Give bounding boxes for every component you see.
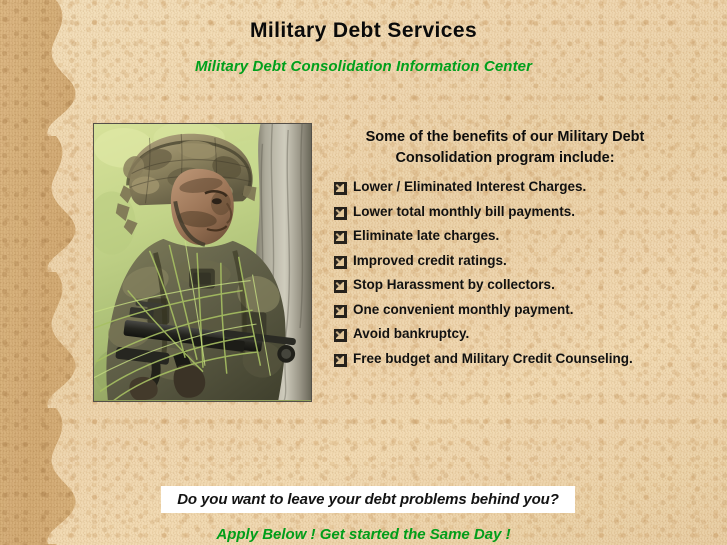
benefit-label: Improved credit ratings. xyxy=(353,254,507,269)
benefit-item: Lower / Eliminated Interest Charges. xyxy=(334,180,680,195)
benefits-panel: Some of the benefits of our Military Deb… xyxy=(330,127,680,376)
question-banner-text: Do you want to leave your debt problems … xyxy=(177,491,559,508)
benefit-item: Eliminate late charges. xyxy=(334,229,680,244)
note-page-icon xyxy=(334,182,347,195)
decorative-left-border xyxy=(0,0,92,545)
benefit-label: Free budget and Military Credit Counseli… xyxy=(353,352,633,367)
note-page-icon xyxy=(334,280,347,293)
soldier-photo-frame xyxy=(93,123,312,402)
page-subtitle: Military Debt Consolidation Information … xyxy=(0,58,727,75)
benefit-item: Avoid bankruptcy. xyxy=(334,327,680,342)
page-title: Military Debt Services xyxy=(0,19,727,43)
benefits-heading: Some of the benefits of our Military Deb… xyxy=(346,127,664,168)
question-banner: Do you want to leave your debt problems … xyxy=(161,486,575,513)
note-page-icon xyxy=(334,305,347,318)
note-page-icon xyxy=(334,207,347,220)
benefit-label: Eliminate late charges. xyxy=(353,229,499,244)
soldier-photo xyxy=(94,124,311,400)
benefit-label: Stop Harassment by collectors. xyxy=(353,278,555,293)
call-to-action-text: Apply Below ! Get started the Same Day ! xyxy=(0,526,727,543)
benefit-item: One convenient monthly payment. xyxy=(334,303,680,318)
note-page-icon xyxy=(334,329,347,342)
benefit-label: Lower / Eliminated Interest Charges. xyxy=(353,180,586,195)
benefit-item: Stop Harassment by collectors. xyxy=(334,278,680,293)
benefit-item: Improved credit ratings. xyxy=(334,254,680,269)
note-page-icon xyxy=(334,256,347,269)
benefit-label: One convenient monthly payment. xyxy=(353,303,574,318)
note-page-icon xyxy=(334,231,347,244)
benefit-item: Free budget and Military Credit Counseli… xyxy=(334,352,680,367)
benefit-item: Lower total monthly bill payments. xyxy=(334,205,680,220)
benefit-label: Avoid bankruptcy. xyxy=(353,327,469,342)
note-page-icon xyxy=(334,354,347,367)
benefit-label: Lower total monthly bill payments. xyxy=(353,205,575,220)
